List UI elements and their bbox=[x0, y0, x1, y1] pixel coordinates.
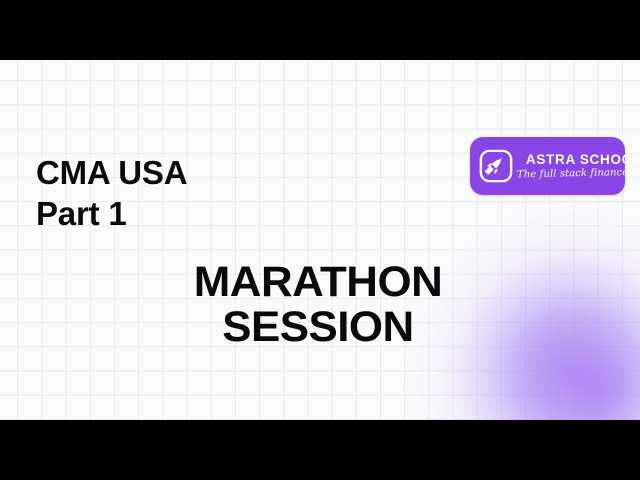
brand-tagline: The full stack finance app bbox=[517, 165, 640, 182]
slide-content-area: CMA USA Part 1 MARATHON SESSION ASTRA SC… bbox=[0, 60, 640, 420]
rocket-icon bbox=[478, 148, 514, 184]
brand-badge-text: ASTRA SCHOOL The full stack finance app bbox=[514, 152, 640, 181]
video-frame: CMA USA Part 1 MARATHON SESSION ASTRA SC… bbox=[0, 0, 640, 480]
letterbox-bottom-bar bbox=[0, 420, 640, 480]
course-title: CMA USA Part 1 bbox=[36, 152, 187, 234]
grid-paper-background bbox=[0, 60, 640, 420]
session-title: MARATHON SESSION bbox=[0, 260, 640, 350]
letterbox-top-bar bbox=[0, 0, 640, 60]
brand-name: ASTRA SCHOOL bbox=[526, 152, 640, 167]
brand-badge: ASTRA SCHOOL The full stack finance app bbox=[470, 137, 625, 195]
